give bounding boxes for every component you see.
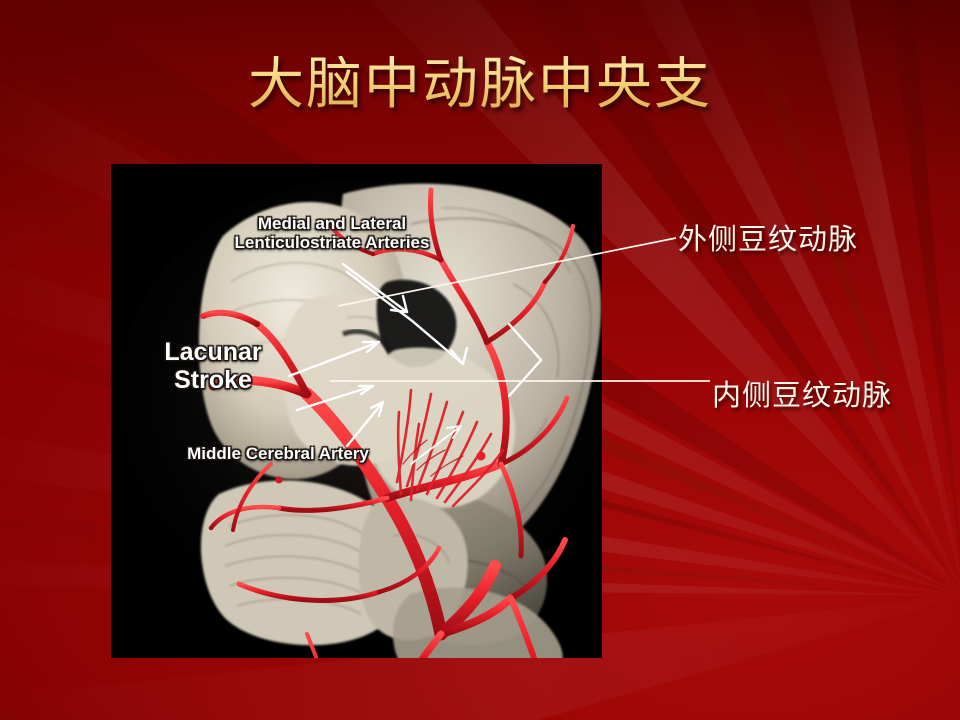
callout-medial-lenticulostriate: 内侧豆纹动脉	[712, 372, 892, 414]
anatomy-figure[interactable]: Medial and Lateral Lenticulostriate Arte…	[111, 164, 602, 658]
callout-lateral-lenticulostriate: 外侧豆纹动脉	[678, 216, 858, 258]
slide-canvas: 大脑中动脉中央支	[0, 0, 960, 720]
slide-title: 大脑中动脉中央支	[0, 56, 960, 115]
